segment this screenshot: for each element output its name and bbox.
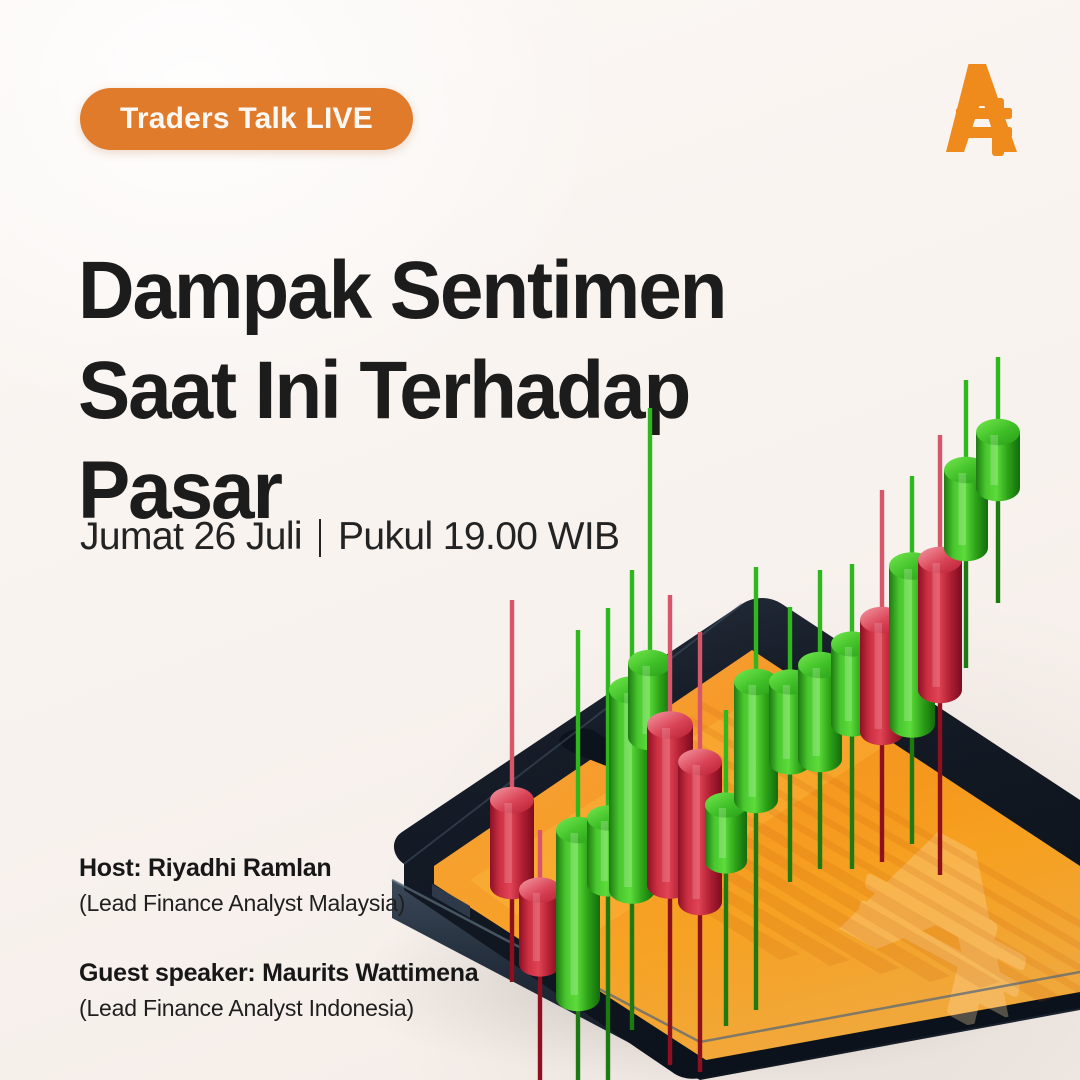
- promo-poster: Traders Talk LIVE Dampak Sentimen Saat I…: [0, 0, 1080, 1080]
- headline-line-2: Saat Ini Terhadap: [78, 341, 804, 441]
- credit-guest: Guest speaker: Maurits Wattimena (Lead F…: [79, 959, 478, 1022]
- schedule-separator: [319, 519, 321, 557]
- credits-block: Host: Riyadhi Ramlan (Lead Finance Analy…: [79, 854, 478, 1022]
- credit-host-name: Host: Riyadhi Ramlan: [79, 854, 478, 883]
- live-badge[interactable]: Traders Talk LIVE: [80, 88, 413, 150]
- live-badge-label: Traders Talk LIVE: [120, 102, 373, 136]
- credit-guest-role: (Lead Finance Analyst Indonesia): [79, 995, 478, 1022]
- credit-guest-name: Guest speaker: Maurits Wattimena: [79, 959, 478, 988]
- schedule-time: Pukul 19.00 WIB: [338, 515, 619, 559]
- brand-logo: [928, 58, 1032, 162]
- credit-host-role: (Lead Finance Analyst Malaysia): [79, 890, 478, 917]
- page-title: Dampak Sentimen Saat Ini Terhadap Pasar: [78, 241, 804, 541]
- credit-host: Host: Riyadhi Ramlan (Lead Finance Analy…: [79, 854, 478, 917]
- schedule-line: Jumat 26 Juli Pukul 19.00 WIB: [80, 515, 619, 559]
- schedule-date: Jumat 26 Juli: [80, 515, 302, 559]
- headline-line-1: Dampak Sentimen: [78, 241, 804, 341]
